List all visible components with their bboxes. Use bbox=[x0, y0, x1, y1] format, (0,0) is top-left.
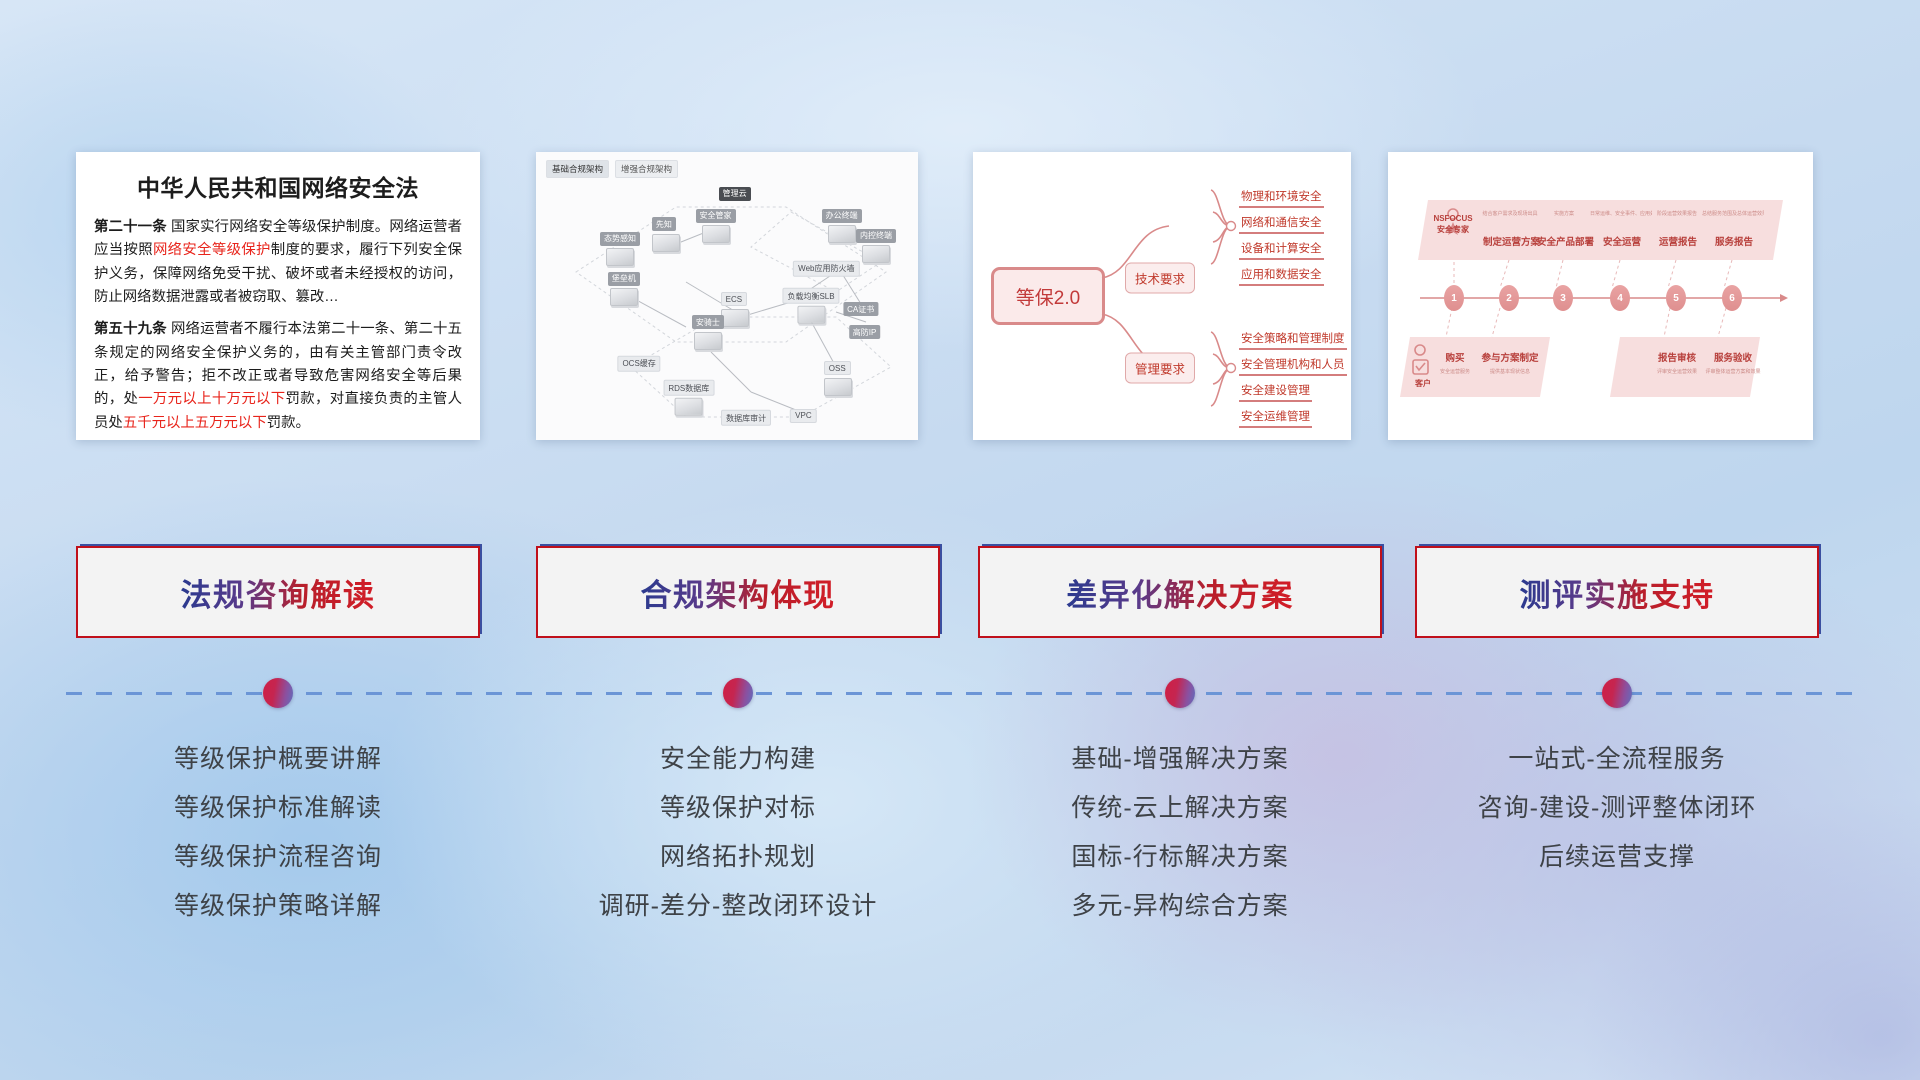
law-article-59-label: 第五十九条 bbox=[94, 321, 167, 337]
server-box-icon bbox=[694, 332, 722, 350]
timeline-dot-3[interactable] bbox=[1165, 678, 1195, 708]
server-box-icon bbox=[862, 245, 890, 263]
timeline-step-title-top: 运营报告 bbox=[1650, 234, 1706, 248]
timeline-step-title-bottom: 报告审核 bbox=[1646, 350, 1708, 364]
timeline-step-subtitle-top: 日常运维、安全事件、应用处理 bbox=[1590, 210, 1652, 217]
mindmap-thumbnail[interactable]: 等保2.0 bbox=[973, 152, 1351, 440]
mindmap-leaf-node: 设备和计算安全 bbox=[1239, 240, 1324, 260]
architecture-node: 先知 bbox=[652, 214, 680, 252]
timeline-step-subtitle-top: 阶段运营效果报告 bbox=[1646, 210, 1708, 217]
architecture-node-label: 办公终端 bbox=[822, 209, 862, 223]
architecture-node: 高防IP bbox=[849, 322, 881, 340]
list-item: 等级保护标准解读 bbox=[76, 784, 480, 833]
timeline-step-title-bottom: 购买 bbox=[1424, 350, 1486, 364]
list-item: 网络拓扑规划 bbox=[536, 833, 940, 882]
timeline-step-number[interactable]: 4 bbox=[1610, 285, 1630, 311]
headline-card-1[interactable]: 法规咨询解读 bbox=[76, 546, 480, 638]
mindmap-leaf-node: 安全运维管理 bbox=[1239, 408, 1312, 428]
architecture-node-label: 态势感知 bbox=[600, 232, 640, 246]
timeline-step-number[interactable]: 6 bbox=[1722, 285, 1742, 311]
architecture-node-label: RDS数据库 bbox=[663, 380, 714, 396]
server-box-icon bbox=[675, 398, 703, 416]
architecture-node: 内控终端 bbox=[856, 225, 896, 263]
nsfocus-thumbnail[interactable]: NSFOCUS安全专家客户1购买安全运营服务2制定运营方案结合客户需求及现场出具… bbox=[1388, 152, 1813, 440]
architecture-node: 数据库审计 bbox=[721, 408, 771, 427]
list-item: 等级保护策略详解 bbox=[76, 882, 480, 931]
list-item: 传统-云上解决方案 bbox=[978, 784, 1382, 833]
architecture-node-label: 堡垒机 bbox=[608, 272, 640, 286]
headline-label-3: 差异化解决方案 bbox=[1066, 570, 1294, 615]
server-box-icon bbox=[824, 378, 852, 396]
customer-role-label: 客户 bbox=[1410, 378, 1436, 389]
mindmap-leaf-node: 安全建设管理 bbox=[1239, 382, 1312, 402]
architecture-node: 安骑士 bbox=[692, 312, 724, 350]
law-paragraph-1: 第二十一条 国家实行网络安全等级保护制度。网络运营者应当按照网络安全等级保护制度… bbox=[94, 216, 462, 309]
architecture-node-label: OSS bbox=[824, 361, 851, 375]
architecture-node-label: CA证书 bbox=[843, 302, 878, 316]
timeline-step-subtitle-top: 总结服务范围及总体运营效果 bbox=[1702, 210, 1764, 217]
timeline-dot-2[interactable] bbox=[723, 678, 753, 708]
law-highlight-text: 网络安全等级保护 bbox=[153, 242, 271, 258]
timeline-step-number[interactable]: 3 bbox=[1553, 285, 1573, 311]
architecture-node: 态势感知 bbox=[600, 228, 640, 266]
timeline-step-number[interactable]: 5 bbox=[1666, 285, 1686, 311]
timeline-step-subtitle-top: 结合客户需求及现场出具 bbox=[1479, 210, 1541, 217]
list-item: 多元-异构综合方案 bbox=[978, 882, 1382, 931]
architecture-node-label: 安骑士 bbox=[692, 315, 724, 329]
architecture-node: 负载均衡SLB bbox=[782, 285, 839, 324]
mindmap-leaf-node: 网络和通信安全 bbox=[1239, 214, 1324, 234]
timeline-step-subtitle-bottom: 提供基本现状信息 bbox=[1477, 368, 1543, 375]
architecture-node-label: 负载均衡SLB bbox=[782, 288, 839, 304]
architecture-node: OCS缓存 bbox=[617, 353, 660, 372]
list-item: 咨询-建设-测评整体闭环 bbox=[1415, 784, 1819, 833]
law-article-21-label: 第二十一条 bbox=[94, 219, 167, 235]
timeline-dashed-line bbox=[66, 692, 1856, 695]
nsfocus-expert-role-label: NSFOCUS安全专家 bbox=[1422, 214, 1484, 236]
architecture-node-label: 管理云 bbox=[719, 187, 751, 201]
architecture-node: ECS bbox=[721, 289, 749, 327]
list-item: 等级保护流程咨询 bbox=[76, 833, 480, 882]
architecture-node-label: 高防IP bbox=[849, 325, 881, 339]
list-item: 一站式-全流程服务 bbox=[1415, 735, 1819, 784]
headline-label-1: 法规咨询解读 bbox=[181, 570, 376, 615]
law-paragraph-2: 第五十九条 网络运营者不履行本法第二十一条、第二十五条规定的网络安全保护义务的，… bbox=[94, 318, 462, 435]
timeline-dot-4[interactable] bbox=[1602, 678, 1632, 708]
list-item: 国标-行标解决方案 bbox=[978, 833, 1382, 882]
mindmap-leaf-node: 安全策略和管理制度 bbox=[1239, 330, 1347, 350]
nsfocus-expert: 安全专家 bbox=[1437, 225, 1469, 234]
mindmap-leaf-node: 物理和环境安全 bbox=[1239, 188, 1324, 208]
mindmap-leaf-node: 安全管理机构和人员 bbox=[1239, 356, 1347, 376]
law-thumbnail[interactable]: 中华人民共和国网络安全法 第二十一条 国家实行网络安全等级保护制度。网络运营者应… bbox=[76, 152, 480, 440]
timeline-step-title-bottom: 服务验收 bbox=[1702, 350, 1764, 364]
timeline-step-title-top: 制定运营方案 bbox=[1483, 234, 1539, 248]
headline-row: 法规咨询解读 合规架构体现 差异化解决方案 测评实施支持 bbox=[0, 546, 1920, 642]
architecture-node-label: OCS缓存 bbox=[617, 355, 660, 371]
timeline-step-title-top: 服务报告 bbox=[1706, 234, 1762, 248]
server-box-icon bbox=[652, 234, 680, 252]
mindmap-branch-node: 管理要求 bbox=[1125, 353, 1195, 384]
law-body-text: 罚款。 bbox=[267, 415, 310, 431]
list-column-1: 等级保护概要讲解 等级保护标准解读 等级保护流程咨询 等级保护策略详解 bbox=[76, 735, 480, 931]
architecture-node-label: 内控终端 bbox=[856, 229, 896, 243]
architecture-node: 管理云 bbox=[719, 183, 751, 201]
headline-card-3[interactable]: 差异化解决方案 bbox=[978, 546, 1382, 638]
list-item: 后续运营支撑 bbox=[1415, 833, 1819, 882]
server-box-icon bbox=[606, 248, 634, 266]
list-item: 安全能力构建 bbox=[536, 735, 940, 784]
architecture-node: OSS bbox=[824, 358, 852, 396]
list-column-2: 安全能力构建 等级保护对标 网络拓扑规划 调研-差分-整改闭环设计 bbox=[536, 735, 940, 931]
nsfocus-brand: NSFOCUS bbox=[1433, 214, 1472, 223]
list-item: 等级保护概要讲解 bbox=[76, 735, 480, 784]
list-item: 基础-增强解决方案 bbox=[978, 735, 1382, 784]
server-box-icon bbox=[702, 225, 730, 243]
timeline-dot-1[interactable] bbox=[263, 678, 293, 708]
list-item: 调研-差分-整改闭环设计 bbox=[536, 882, 940, 931]
headline-card-4[interactable]: 测评实施支持 bbox=[1415, 546, 1819, 638]
list-item: 等级保护对标 bbox=[536, 784, 940, 833]
timeline-step-number[interactable]: 2 bbox=[1499, 285, 1519, 311]
headline-label-2: 合规架构体现 bbox=[641, 570, 836, 615]
list-column-3: 基础-增强解决方案 传统-云上解决方案 国标-行标解决方案 多元-异构综合方案 bbox=[978, 735, 1382, 931]
mindmap-branch-node: 技术要求 bbox=[1125, 263, 1195, 294]
architecture-node: VPC bbox=[790, 405, 816, 423]
law-title: 中华人民共和国网络安全法 bbox=[94, 169, 462, 203]
timeline-step-number[interactable]: 1 bbox=[1444, 285, 1464, 311]
headline-label-4: 测评实施支持 bbox=[1520, 570, 1715, 615]
architecture-node: CA证书 bbox=[843, 299, 878, 317]
architecture-node-label: 数据库审计 bbox=[721, 410, 771, 426]
architecture-node-label: ECS bbox=[721, 292, 747, 306]
architecture-thumbnail[interactable]: 基础合规架构 增强合规架构 bbox=[536, 152, 918, 440]
list-column-4: 一站式-全流程服务 咨询-建设-测评整体闭环 后续运营支撑 bbox=[1415, 735, 1819, 882]
architecture-node-label: VPC bbox=[790, 409, 816, 423]
server-box-icon bbox=[828, 225, 856, 243]
mindmap-leaf-node: 应用和数据安全 bbox=[1239, 266, 1324, 286]
architecture-node-label: 先知 bbox=[652, 217, 676, 231]
timeline-step-title-bottom: 参与方案制定 bbox=[1479, 350, 1541, 364]
architecture-node-label: Web应用防火墙 bbox=[793, 260, 859, 276]
headline-card-2[interactable]: 合规架构体现 bbox=[536, 546, 940, 638]
server-box-icon bbox=[610, 288, 638, 306]
timeline-step-title-top: 安全产品部署 bbox=[1537, 234, 1593, 248]
architecture-node: 安全管家 bbox=[696, 205, 736, 243]
thumbnail-row: 中华人民共和国网络安全法 第二十一条 国家实行网络安全等级保护制度。网络运营者应… bbox=[0, 152, 1920, 442]
timeline-step-subtitle-bottom: 评审整体运营方案和效果 bbox=[1700, 368, 1766, 375]
server-box-icon bbox=[721, 309, 749, 327]
timeline-step-title-top: 安全运营 bbox=[1594, 234, 1650, 248]
timeline-step-subtitle-top: 实施方案 bbox=[1533, 210, 1595, 217]
architecture-node: RDS数据库 bbox=[663, 378, 714, 417]
architecture-node-label: 安全管家 bbox=[696, 209, 736, 223]
architecture-node: Web应用防火墙 bbox=[793, 258, 859, 277]
server-box-icon bbox=[797, 306, 825, 324]
law-highlight-text: 五千元以上五万元以下 bbox=[123, 415, 267, 431]
law-highlight-text: 一万元以上十万元以下 bbox=[138, 391, 285, 407]
architecture-node: 堡垒机 bbox=[608, 268, 640, 306]
